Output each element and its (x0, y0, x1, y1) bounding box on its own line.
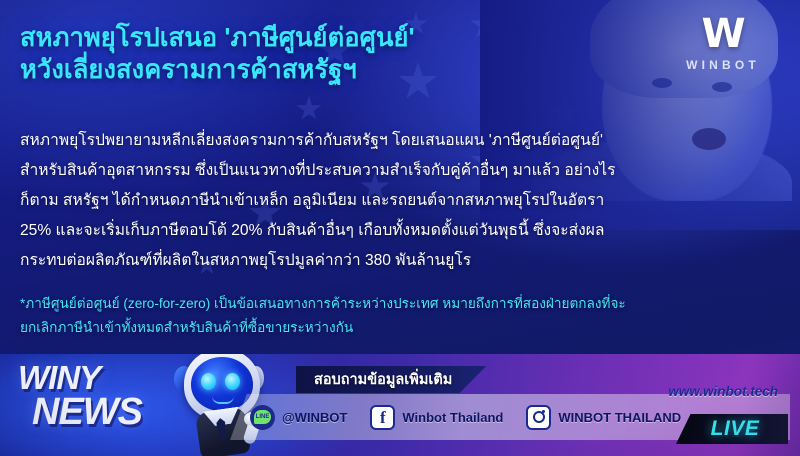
body-line-4: 25% และจะเริ่มเก็บภาษีตอบโต้ 20% กับสินค… (20, 216, 782, 246)
live-badge-label: LIVE (711, 417, 760, 441)
social-label-facebook: Winbot Thailand (402, 410, 503, 425)
social-label-instagram: WINBOT THAILAND (558, 410, 681, 425)
instagram-icon-ring (533, 411, 545, 423)
body-line-2: สำหรับสินค้าอุตสาหกรรม ซึ่งเป็นแนวทางที่… (20, 156, 782, 186)
body-line-1: สหภาพยุโรปพยายามหลีกเลี่ยงสงครามการค้ากั… (20, 126, 782, 156)
mascot-eye-right (225, 373, 240, 390)
line-icon-bubble: LINE (254, 410, 271, 424)
social-links-row: LINE @WINBOT f Winbot Thailand WINBOT TH… (250, 400, 695, 434)
headline-line-1: สหภาพยุโรปเสนอ 'ภาษีศูนย์ต่อศูนย์' (20, 22, 580, 54)
footnote-line-2: ยกเลิกภาษีนำเข้าทั้งหมดสำหรับสินค้าที่ซื… (20, 316, 782, 340)
instagram-icon-dot (542, 410, 545, 413)
body-line-5: กระทบต่อผลิตภัณฑ์ที่ผลิตในสหภาพยุโรปมูลค… (20, 246, 782, 276)
body-line-3: ก็ตาม สหรัฐฯ ได้กำหนดภาษีนำเข้าเหล็ก อลู… (20, 186, 782, 216)
social-item-facebook[interactable]: f Winbot Thailand (370, 405, 503, 430)
social-label-line: @WINBOT (282, 410, 347, 425)
headline-line-2: หวังเลี่ยงสงครามการค้าสหรัฐฯ (20, 54, 580, 86)
winbot-logo-mark: W (668, 14, 778, 54)
social-item-instagram[interactable]: WINBOT THAILAND (526, 405, 681, 430)
footnote: *ภาษีศูนย์ต่อศูนย์ (zero-for-zero) เป็นข… (20, 292, 782, 340)
star-shape (296, 96, 322, 122)
winbot-logo: W WINBOT (668, 14, 778, 72)
article-body: สหภาพยุโรปพยายามหลีกเลี่ยงสงครามการค้ากั… (20, 126, 782, 276)
facebook-icon: f (370, 405, 395, 430)
show-wordmark: WINY NEWS (18, 362, 142, 430)
contact-ribbon: สอบถามข้อมูลเพิ่มเติม (296, 366, 486, 393)
website-url[interactable]: www.winbot.tech (668, 384, 778, 399)
footnote-line-1: *ภาษีศูนย์ต่อศูนย์ (zero-for-zero) เป็นข… (20, 292, 782, 316)
news-graphic-canvas: W WINBOT สหภาพยุโรปเสนอ 'ภาษีศูนย์ต่อศูน… (0, 0, 800, 456)
social-item-line[interactable]: LINE @WINBOT (250, 405, 347, 430)
winbot-logo-wordmark: WINBOT (668, 58, 778, 72)
contact-ribbon-label: สอบถามข้อมูลเพิ่มเติม (314, 368, 452, 391)
bottom-bar: WINY NEWS สอบถามข้อมูลเพิ่มเติม www.winb… (0, 354, 800, 456)
line-icon: LINE (250, 405, 275, 430)
mascot-eye-left (201, 373, 216, 390)
live-badge: LIVE (676, 414, 788, 444)
instagram-icon (526, 405, 551, 430)
headline: สหภาพยุโรปเสนอ 'ภาษีศูนย์ต่อศูนย์' หวังเ… (20, 22, 580, 86)
show-wordmark-line-2: NEWS (32, 394, 142, 430)
show-wordmark-line-1: WINY (18, 362, 142, 394)
